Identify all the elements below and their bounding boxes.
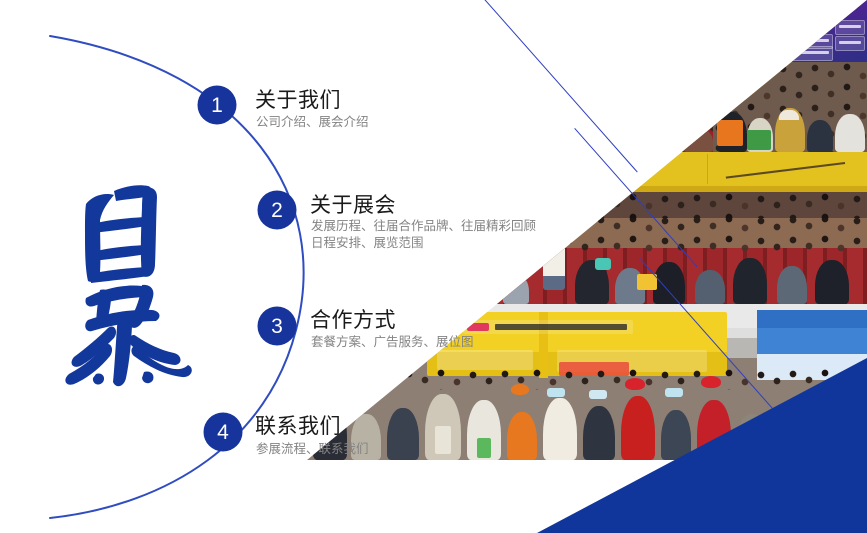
toc-subtitle-4: 参展流程、联系我们 [256, 440, 546, 457]
toc-title-3: 合作方式 [310, 304, 396, 334]
toc-number-3: 3 [258, 307, 296, 345]
toc-number-1: 1 [198, 86, 236, 124]
stage-led-screen [425, 56, 611, 90]
toc-subtitle-3: 套餐方案、广告服务、展位图 [311, 333, 601, 350]
toc-subtitle-1: 公司介绍、展会介绍 [256, 113, 546, 130]
calligraphy-mulu [56, 168, 206, 393]
toc-title-2: 关于展会 [310, 189, 396, 219]
toc-title-4: 联系我们 [255, 410, 341, 440]
toc-subtitle-2: 发展历程、往届合作品牌、往届精彩回顾 日程安排、展览范围 [311, 217, 585, 251]
toc-number-4: 4 [204, 413, 242, 451]
toc-title-1: 关于我们 [255, 84, 341, 114]
toc-number-2: 2 [258, 191, 296, 229]
diagonal-accent-line-top [483, 0, 638, 173]
exhibition-booth-banner-photo [713, 0, 867, 152]
toc-slide: 1 关于我们 公司介绍、展会介绍 2 关于展会 发展历程、往届合作品牌、往届精彩… [0, 0, 867, 533]
